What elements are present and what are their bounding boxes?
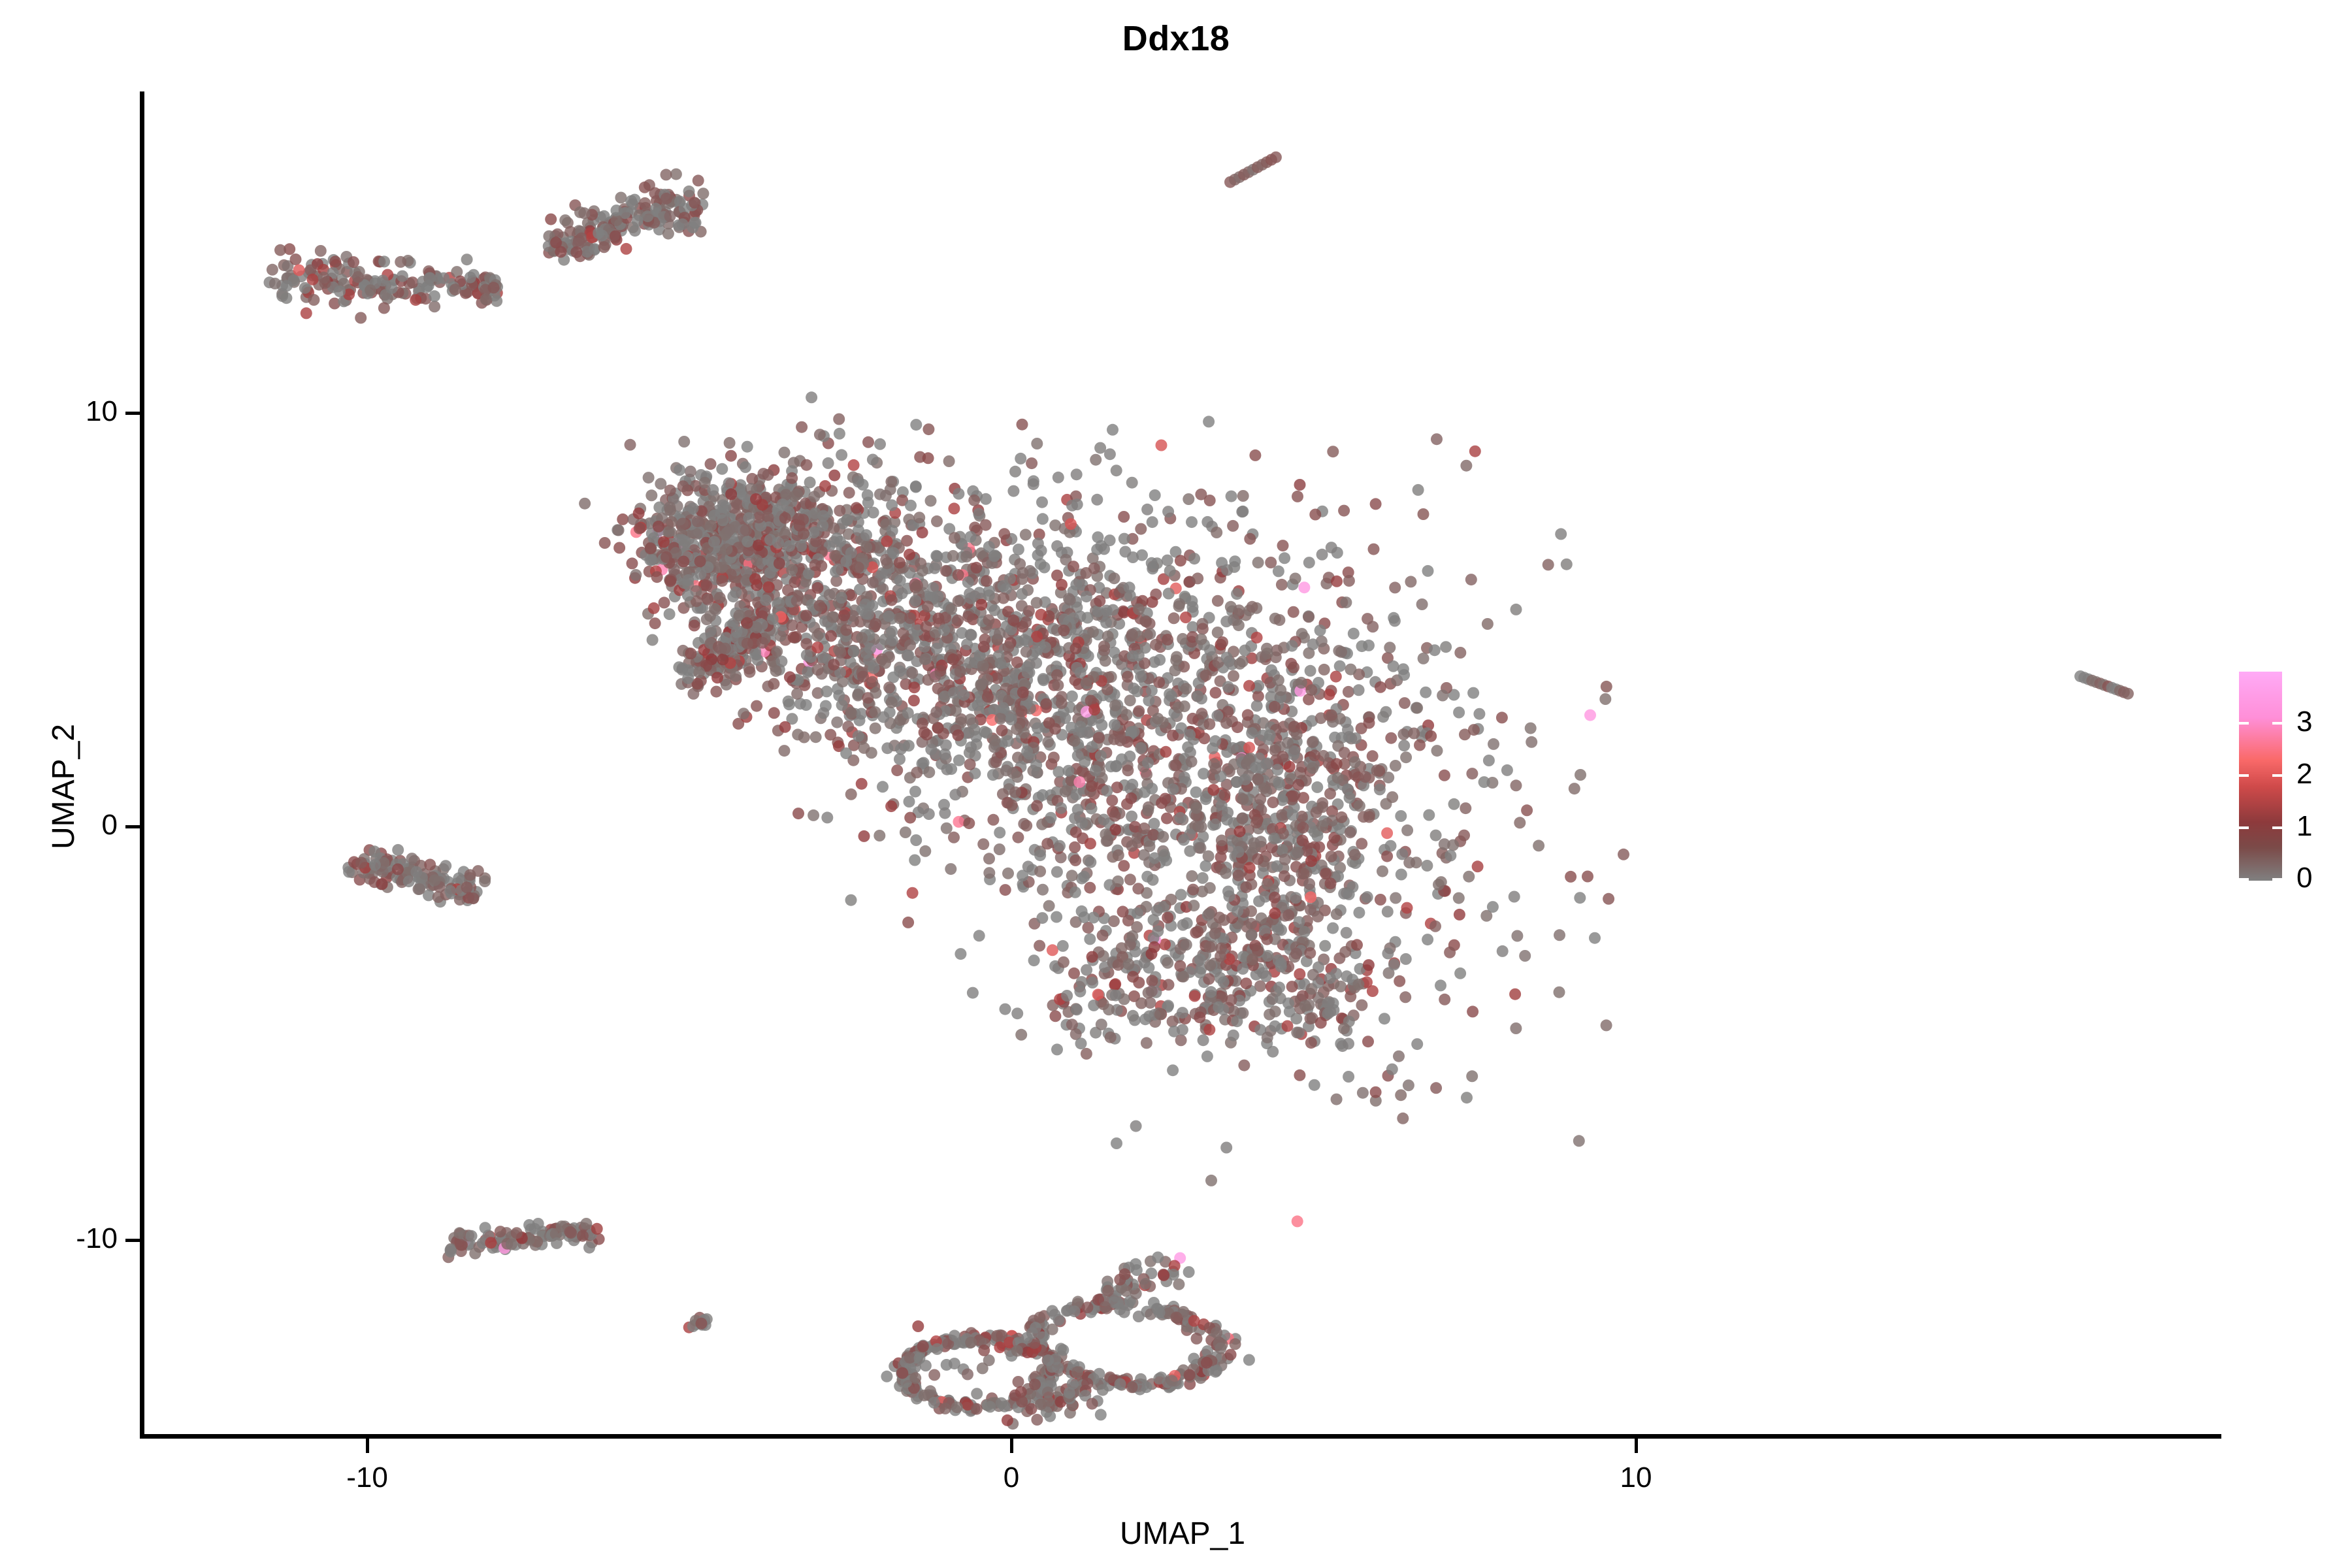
x-ticklabel-neg10: -10: [302, 1463, 433, 1492]
colorbar-label-1: 1: [2296, 812, 2312, 841]
y-tick-10: [125, 412, 140, 415]
x-tick-10: [1635, 1439, 1638, 1453]
colorbar-label-2: 2: [2296, 760, 2312, 789]
colorbar-tick-0-right: [2272, 878, 2282, 881]
y-ticklabel-neg10: -10: [20, 1224, 118, 1253]
colorbar-label-3: 3: [2296, 708, 2312, 736]
page-title: Ddx18: [0, 18, 2352, 59]
x-tick-neg10: [366, 1439, 369, 1453]
scatter-svg: [144, 91, 2221, 1436]
x-ticklabel-0: 0: [946, 1463, 1077, 1492]
colorbar-tick-2-left: [2239, 774, 2249, 777]
colorbar-tick-1-left: [2239, 826, 2249, 829]
colorbar-tick-3-left: [2239, 722, 2249, 725]
x-tick-0: [1010, 1439, 1013, 1453]
colorbar-tick-2-right: [2272, 774, 2282, 777]
colorbar-tick-1-right: [2272, 826, 2282, 829]
colorbar-tick-3-right: [2272, 722, 2282, 725]
y-tick-neg10: [125, 1239, 140, 1242]
x-ticklabel-10: 10: [1571, 1463, 1701, 1492]
plot-root: Ddx18 10 0 -10 -10 0 10 UMAP_1 UMAP_2 3 …: [0, 0, 2352, 1568]
y-tick-0: [125, 825, 140, 828]
scatter-points-layer: [144, 91, 2221, 1436]
x-axis-title: UMAP_1: [144, 1516, 2221, 1552]
colorbar-tick-0-left: [2239, 878, 2249, 881]
colorbar-legend: 3 2 1 0: [2239, 672, 2344, 887]
y-ticklabel-10: 10: [33, 397, 118, 426]
plot-panel: [144, 91, 2221, 1436]
colorbar-label-0: 0: [2296, 864, 2312, 892]
y-axis-title: UMAP_2: [46, 724, 82, 849]
